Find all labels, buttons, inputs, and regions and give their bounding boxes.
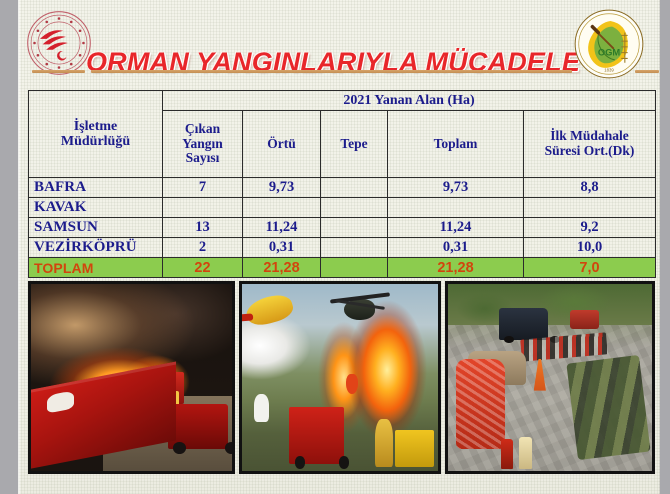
table-head: İşletme Müdürlüğü 2021 Yanan Alan (Ha) Ç…	[29, 91, 656, 178]
page-title: ORMAN YANGINLARIYLA MÜCADELE	[98, 42, 568, 82]
cell-tepe	[321, 178, 388, 198]
fire-count-header-line2: Yangın	[163, 137, 242, 152]
photo1-scene	[31, 284, 232, 471]
cell-fire-count: 13	[163, 218, 243, 238]
cell-total-fire-count: 22	[163, 258, 243, 278]
svg-text:OGM: OGM	[598, 48, 621, 58]
cell-fire-count: 2	[163, 238, 243, 258]
cell-ortu: 9,73	[243, 178, 321, 198]
cell-ortu: 0,31	[243, 238, 321, 258]
cell-toplam	[388, 198, 524, 218]
tc-tarim-orman-bakanligi-seal-icon	[25, 9, 93, 77]
cell-office: VEZİRKÖPRÜ	[29, 238, 163, 258]
cell-total-tepe	[321, 258, 388, 278]
column-header-response-time: İlk Müdahale Süresi Ort.(Dk)	[524, 111, 656, 178]
column-header-group-burned-area: 2021 Yanan Alan (Ha)	[163, 91, 656, 111]
cell-total-label: TOPLAM	[29, 258, 163, 278]
cell-ortu	[243, 198, 321, 218]
fire-statistics-table: İşletme Müdürlüğü 2021 Yanan Alan (Ha) Ç…	[28, 90, 656, 278]
cell-response: 8,8	[524, 178, 656, 198]
photo2-scene	[242, 284, 438, 471]
table-row: SAMSUN 13 11,24 11,24 9,2	[29, 218, 656, 238]
fire-count-header-line1: Çıkan	[163, 122, 242, 137]
column-header-tepe: Tepe	[321, 111, 388, 178]
cell-tepe	[321, 198, 388, 218]
photo3-hose-pile	[456, 359, 505, 449]
table-row: KAVAK	[29, 198, 656, 218]
cell-toplam: 0,31	[388, 238, 524, 258]
cell-toplam: 11,24	[388, 218, 524, 238]
photo3-red-car	[570, 310, 599, 329]
cell-total-ortu: 21,28	[243, 258, 321, 278]
cell-office: BAFRA	[29, 178, 163, 198]
photo2-crew-left	[254, 394, 270, 422]
header-divider-left	[32, 70, 85, 73]
photo2-airtanker	[243, 291, 295, 329]
header-divider-center	[91, 70, 572, 73]
cell-toplam: 9,73	[388, 178, 524, 198]
slide-canvas: ORMAN YANGINLARIYLA MÜCADELE OGM 1839	[18, 0, 660, 494]
column-header-ortu: Örtü	[243, 111, 321, 178]
cell-total-toplam: 21,28	[388, 258, 524, 278]
photo-strip	[28, 281, 655, 474]
photo-wildfire-night-fire-trucks	[28, 281, 235, 474]
cell-office: SAMSUN	[29, 218, 163, 238]
slide-header: ORMAN YANGINLARIYLA MÜCADELE OGM 1839	[18, 0, 660, 88]
cell-tepe	[321, 238, 388, 258]
ogm-orman-genel-mudurlugu-logo-icon: OGM 1839	[573, 8, 645, 80]
photo-equipment-laid-out	[445, 281, 655, 474]
cell-response	[524, 198, 656, 218]
photo3-extinguisher-red	[501, 439, 513, 469]
photo3-treeline	[448, 284, 652, 325]
photo3-backpack-row	[567, 355, 652, 460]
photo3-scene	[448, 284, 652, 471]
photo3-extinguisher-cream	[519, 437, 531, 469]
cell-fire-count: 7	[163, 178, 243, 198]
table-row: VEZİRKÖPRÜ 2 0,31 0,31 10,0	[29, 238, 656, 258]
table-body: BAFRA 7 9,73 9,73 8,8 KAVAK SAMSUN	[29, 178, 656, 278]
cell-total-response: 7,0	[524, 258, 656, 278]
photo3-pickup-truck	[499, 308, 548, 340]
photo2-fire-truck	[289, 407, 344, 463]
photo2-helicopter	[344, 299, 375, 320]
column-header-fire-count: Çıkan Yangın Sayısı	[163, 111, 243, 178]
photo2-firefighter	[375, 419, 393, 468]
cell-response: 9,2	[524, 218, 656, 238]
office-header-line1: İşletme	[29, 119, 162, 134]
cell-response: 10,0	[524, 238, 656, 258]
table-row: BAFRA 7 9,73 9,73 8,8	[29, 178, 656, 198]
photo1-pickup	[168, 404, 228, 449]
table-header-row-group: İşletme Müdürlüğü 2021 Yanan Alan (Ha)	[29, 91, 656, 111]
header-divider-right	[635, 70, 659, 73]
svg-text:1839: 1839	[604, 67, 614, 72]
table-total-row: TOPLAM 22 21,28 21,28 7,0	[29, 258, 656, 278]
photo2-water-bucket	[346, 374, 358, 395]
fire-count-header-line3: Sayısı	[163, 151, 242, 166]
column-header-toplam: Toplam	[388, 111, 524, 178]
cell-ortu: 11,24	[243, 218, 321, 238]
photo3-traffic-cone	[534, 359, 546, 391]
cell-fire-count	[163, 198, 243, 218]
fire-statistics-table-wrapper: İşletme Müdürlüğü 2021 Yanan Alan (Ha) Ç…	[28, 90, 655, 278]
office-header-line2: Müdürlüğü	[29, 134, 162, 149]
cell-tepe	[321, 218, 388, 238]
response-header-line2: Süresi Ort.(Dk)	[524, 144, 655, 159]
column-header-office: İşletme Müdürlüğü	[29, 91, 163, 178]
response-header-line1: İlk Müdahale	[524, 129, 655, 144]
photo-airtanker-helicopter-flames	[239, 281, 441, 474]
cell-office: KAVAK	[29, 198, 163, 218]
photo2-dozer	[395, 430, 434, 467]
